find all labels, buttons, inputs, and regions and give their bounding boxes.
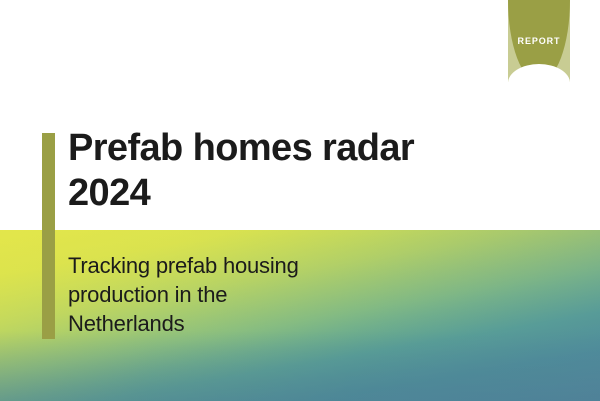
- vertical-accent-bar: [42, 133, 55, 339]
- report-badge: REPORT: [508, 0, 570, 82]
- cover-subtitle: Tracking prefab housing production in th…: [68, 251, 348, 338]
- cover-title: Prefab homes radar 2024: [68, 126, 488, 216]
- badge-label: REPORT: [508, 36, 570, 46]
- band-bottom-fade: [0, 331, 600, 401]
- report-cover: REPORT Prefab homes radar 2024 Tracking …: [0, 0, 600, 401]
